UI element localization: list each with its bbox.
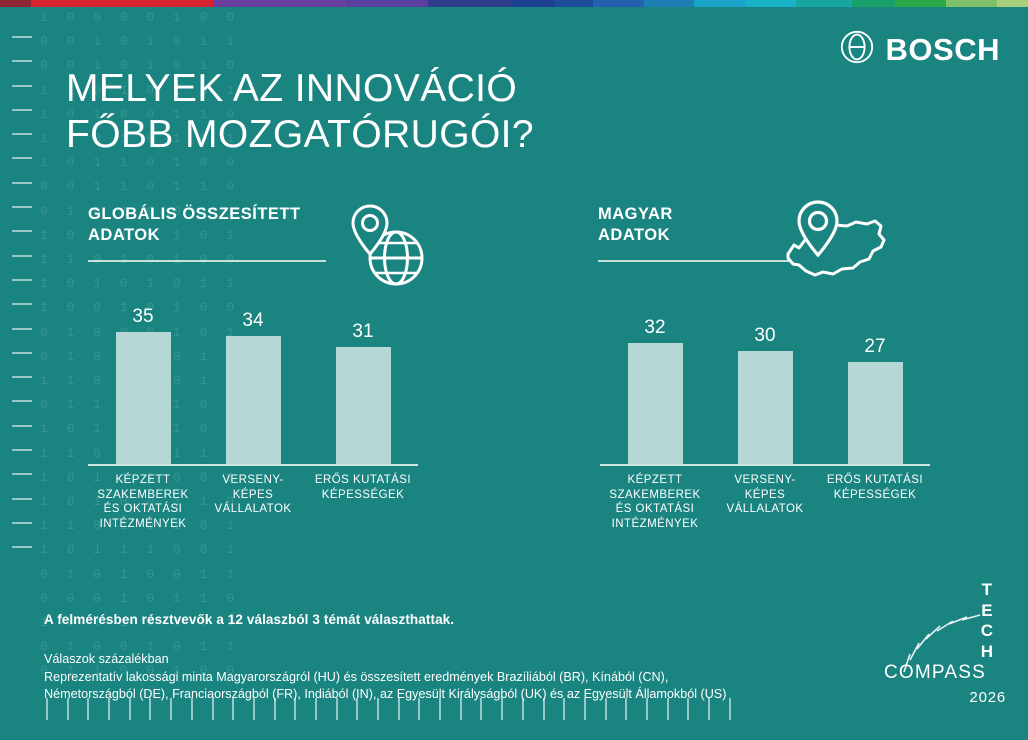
chart-global: 353431 KÉPZETT SZAKEMBEREK ÉS OKTATÁSI I… bbox=[88, 306, 418, 531]
color-strip-segment bbox=[593, 0, 644, 7]
compass-tech-letter: C bbox=[981, 621, 994, 642]
bar bbox=[628, 343, 683, 464]
footer-notes: A felmérésben résztvevők a 12 válaszból … bbox=[44, 612, 726, 704]
bar bbox=[336, 347, 391, 464]
bar-column: 31 bbox=[308, 321, 418, 464]
ruler-dash bbox=[12, 60, 32, 62]
compass-year: 2026 bbox=[969, 689, 1006, 706]
color-strip-segment bbox=[796, 0, 852, 7]
color-strip-segment bbox=[511, 0, 554, 7]
compass-tech-letter: H bbox=[981, 642, 994, 663]
chart-hungary-categories: KÉPZETT SZAKEMBEREK ÉS OKTATÁSI INTÉZMÉN… bbox=[600, 473, 930, 531]
footer-methodology: Válaszok százalékban Reprezentatív lakos… bbox=[44, 651, 726, 704]
bar-category-label: VERSENY- KÉPES VÁLLALATOK bbox=[710, 473, 820, 531]
compass-tech-letter: T bbox=[982, 580, 993, 601]
bar-category-label: VERSENY- KÉPES VÁLLALATOK bbox=[198, 473, 308, 531]
compass-name: COMPASS bbox=[884, 662, 986, 684]
title-line-2: FŐBB MOZGATÓRUGÓI? bbox=[66, 112, 534, 158]
bosch-wordmark: BOSCH bbox=[886, 32, 1000, 68]
bar bbox=[226, 336, 281, 464]
color-strip-segment bbox=[554, 0, 594, 7]
ruler-dash bbox=[12, 109, 32, 111]
bar-value-label: 35 bbox=[132, 306, 153, 328]
ruler-dash bbox=[12, 133, 32, 135]
bar-column: 30 bbox=[710, 325, 820, 464]
bar bbox=[848, 362, 903, 464]
compass-tech-letters: TECH bbox=[981, 580, 994, 662]
title-line-1: MELYEK AZ INNOVÁCIÓ bbox=[66, 66, 534, 112]
panel-global-divider bbox=[88, 260, 326, 262]
color-strip-segment bbox=[946, 0, 997, 7]
footer-note-2: Reprezentatív lakossági minta Magyarorsz… bbox=[44, 669, 726, 687]
color-strip-segment bbox=[644, 0, 693, 7]
bar-column: 32 bbox=[600, 317, 710, 464]
ruler-dash bbox=[12, 255, 32, 257]
color-strip-segment bbox=[745, 0, 796, 7]
ruler-dash bbox=[12, 36, 32, 38]
infographic-canvas: 1 0 0 0 0 1 0 0 0 0 1 0 1 0 1 1 0 0 1 0 … bbox=[0, 0, 1028, 740]
bar-column: 27 bbox=[820, 336, 930, 464]
left-dash-ruler bbox=[12, 36, 32, 571]
bosch-anchor-icon bbox=[840, 30, 874, 69]
tech-compass-logo: TECH COMPASS 2026 bbox=[884, 580, 1012, 708]
color-strip-segment bbox=[346, 0, 428, 7]
footer-note-1: Válaszok százalékban bbox=[44, 651, 726, 669]
color-strip-segment bbox=[214, 0, 346, 7]
color-strip-segment bbox=[997, 0, 1028, 7]
bar-category-label: KÉPZETT SZAKEMBEREK ÉS OKTATÁSI INTÉZMÉN… bbox=[600, 473, 710, 531]
bar bbox=[116, 332, 171, 464]
color-strip-segment bbox=[852, 0, 895, 7]
bar-value-label: 34 bbox=[242, 310, 263, 332]
ruler-dash bbox=[12, 498, 32, 500]
bosch-logo: BOSCH bbox=[840, 30, 1000, 69]
ruler-dash bbox=[12, 376, 32, 378]
bar-value-label: 30 bbox=[754, 325, 775, 347]
panel-hungary-heading-line2: ADATOK bbox=[598, 226, 670, 244]
ruler-dash bbox=[12, 473, 32, 475]
bar bbox=[738, 351, 793, 464]
panel-hungary-header: MAGYAR ADATOK bbox=[598, 204, 928, 262]
bar-value-label: 32 bbox=[644, 317, 665, 339]
bar-category-label: KÉPZETT SZAKEMBEREK ÉS OKTATÁSI INTÉZMÉN… bbox=[88, 473, 198, 531]
brand-color-strip bbox=[0, 0, 1028, 7]
chart-hungary-axis bbox=[600, 464, 930, 466]
ruler-dash bbox=[12, 328, 32, 330]
panel-hungary-heading-line1: MAGYAR bbox=[598, 205, 673, 223]
chart-hungary-plot: 323027 bbox=[600, 306, 930, 464]
footer-note-3: Németországból (DE), Franciaországból (F… bbox=[44, 686, 726, 704]
chart-hungary: 323027 KÉPZETT SZAKEMBEREK ÉS OKTATÁSI I… bbox=[600, 306, 930, 531]
panel-global-heading-line2: ADATOK bbox=[88, 226, 160, 244]
bar-category-label: ERŐS KUTATÁSI KÉPESSÉGEK bbox=[820, 473, 930, 531]
globe-pin-icon bbox=[334, 198, 426, 295]
page-title: MELYEK AZ INNOVÁCIÓ FŐBB MOZGATÓRUGÓI? bbox=[66, 66, 534, 158]
ruler-dash bbox=[12, 206, 32, 208]
panel-hungary-divider bbox=[598, 260, 790, 262]
footer-lead: A felmérésben résztvevők a 12 válaszból … bbox=[44, 612, 726, 627]
ruler-dash bbox=[12, 449, 32, 451]
bar-category-label: ERŐS KUTATÁSI KÉPESSÉGEK bbox=[308, 473, 418, 531]
chart-global-plot: 353431 bbox=[88, 306, 418, 464]
bar-column: 34 bbox=[198, 310, 308, 464]
chart-global-categories: KÉPZETT SZAKEMBEREK ÉS OKTATÁSI INTÉZMÉN… bbox=[88, 473, 418, 531]
ruler-dash bbox=[12, 279, 32, 281]
color-strip-segment bbox=[694, 0, 745, 7]
panel-global-heading-line1: GLOBÁLIS ÖSSZESÍTETT bbox=[88, 205, 301, 223]
compass-tech-letter: E bbox=[981, 601, 993, 622]
ruler-dash bbox=[12, 425, 32, 427]
ruler-dash bbox=[12, 522, 32, 524]
ruler-dash bbox=[12, 157, 32, 159]
hungary-map-pin-icon bbox=[774, 198, 898, 295]
ruler-dash bbox=[12, 182, 32, 184]
bar-value-label: 31 bbox=[352, 321, 373, 343]
color-strip-segment bbox=[428, 0, 510, 7]
panel-global-header: GLOBÁLIS ÖSSZESÍTETT ADATOK bbox=[88, 204, 428, 262]
ruler-tick bbox=[729, 698, 731, 720]
chart-global-axis bbox=[88, 464, 418, 466]
ruler-dash bbox=[12, 230, 32, 232]
color-strip-segment bbox=[895, 0, 946, 7]
bar-column: 35 bbox=[88, 306, 198, 464]
ruler-dash bbox=[12, 546, 32, 548]
color-strip-segment bbox=[31, 0, 214, 7]
ruler-dash bbox=[12, 400, 32, 402]
color-strip-segment bbox=[0, 0, 31, 7]
ruler-dash bbox=[12, 352, 32, 354]
ruler-dash bbox=[12, 85, 32, 87]
ruler-dash bbox=[12, 303, 32, 305]
bar-value-label: 27 bbox=[864, 336, 885, 358]
